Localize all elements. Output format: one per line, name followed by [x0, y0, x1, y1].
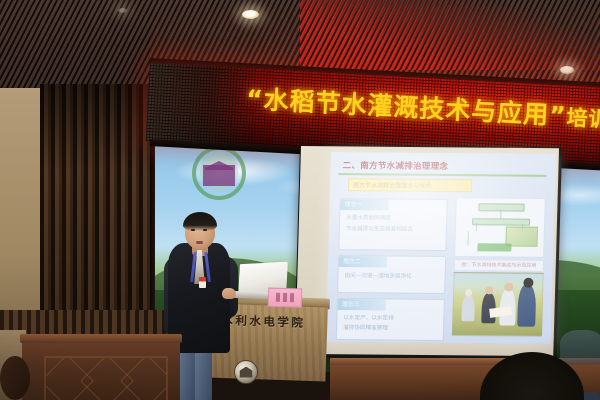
photo-person [517, 285, 536, 327]
diagram-label-chip [477, 243, 511, 251]
foreground-cabinet-top [20, 334, 182, 343]
slide-bullet: 田间—沟道—湿地多级净化 [344, 273, 411, 281]
slide-bullet: 节水减排与生态修复相结合 [346, 226, 413, 234]
slide-text-box: 理念二 田间—沟道—湿地多级净化 [337, 255, 446, 294]
slide-highlight-bar: 南方节水减排治理理念与技术 [348, 178, 472, 192]
presenter-eye [191, 229, 195, 231]
ceiling-downlight [560, 66, 574, 74]
slide-box-header: 理念一 [340, 199, 388, 210]
lanyard-strap [190, 252, 196, 282]
slide-diagram [454, 197, 546, 258]
presenter-hand [222, 288, 236, 299]
presenter-mouth [196, 241, 203, 244]
ceiling-downlight [242, 10, 259, 19]
slide-text-box: 理念一 水量水质协同调控 节水减排与生态修复相结合 [338, 198, 447, 251]
diagram-connector [500, 209, 501, 218]
ceiling-downlight [118, 8, 127, 13]
diagram-connector [467, 231, 468, 245]
podium-emblem-medallion [234, 360, 258, 384]
slide-box-header: 理念三 [338, 299, 386, 310]
slide-text-box: 理念三 以水定产、以水定排 灌排协同精准管理 [336, 298, 445, 341]
slide-box-header: 理念二 [339, 256, 387, 267]
sign-text-stroke [290, 293, 294, 302]
presenter-badge [199, 277, 206, 288]
led-banner-suffix: 培训班 [566, 106, 600, 134]
emblem-roof [205, 161, 233, 170]
sign-text-stroke [283, 293, 287, 302]
podium-pink-sign [268, 288, 302, 308]
slide-title: 二、南方节水减排治理理念 [342, 159, 448, 172]
slide-field-photo [452, 272, 544, 337]
university-emblem [192, 146, 246, 200]
photo-person [461, 295, 475, 321]
audience-member-background [560, 330, 600, 364]
foreground-dark-object [0, 356, 30, 400]
medallion-pavilion-figure [239, 367, 254, 378]
slide-bullet: 灌排协同精准管理 [343, 325, 388, 333]
slide-bullet: 水量水质协同调控 [346, 215, 391, 223]
sign-text-stroke [276, 293, 280, 302]
projected-slide: 二、南方节水减排治理理念 南方节水减排治理理念与技术 理念一 水量水质协同调控 … [326, 152, 556, 344]
slide-divider [338, 173, 546, 176]
slide-photo-caption: 图：节水减排技术集成与示范应用 [454, 259, 544, 272]
diagram-node [478, 203, 524, 211]
slide-bullet: 以水定产、以水定排 [343, 315, 394, 323]
ceiling-red-glow-secondary [300, 0, 600, 70]
diagram-connector [476, 223, 477, 231]
cabinet-diamond-molding [120, 356, 168, 400]
lecture-hall-photo: 饮水思源 “水稻节水灌溉技术与应用”培训班 二、南方节水减排治理理念 南方节水减… [0, 0, 600, 400]
emblem-pavilion-figure [203, 160, 235, 186]
presenter-eye [203, 229, 207, 231]
cabinet-molding-panel [44, 356, 168, 400]
